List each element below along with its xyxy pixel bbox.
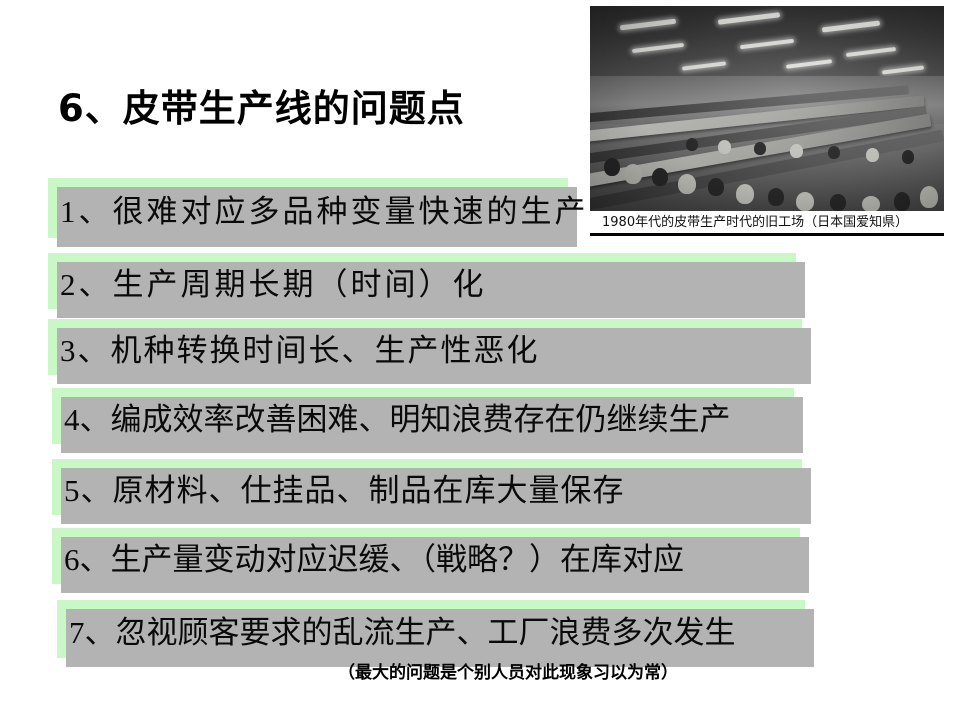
list-item-label: 7、忽视顾客要求的乱流生产、工厂浪费多次发生 [69, 607, 736, 652]
slide-canvas: 6、皮带生产线的问题点 [0, 0, 960, 720]
list-item[interactable]: 7、忽视顾客要求的乱流生产、工厂浪费多次发生 [57, 600, 805, 658]
list-item[interactable]: 4、编成效率改善困难、明知浪费存在仍继续生产 [52, 388, 794, 444]
list-item[interactable]: 3、机种转换时间长、生产性恶化 [48, 319, 802, 375]
list-item[interactable]: 5、原材料、仕挂品、制品在库大量保存 [52, 459, 802, 515]
list-item-label: 4、编成效率改善困难、明知浪费存在仍继续生产 [64, 394, 731, 439]
list-item-label: 1、很难对应多品种变量快速的生产 [60, 186, 589, 231]
factory-photo [590, 6, 944, 211]
footer-note: （最大的问题是个别人员对此现象习以为常） [338, 658, 678, 683]
page-title: 6、皮带生产线的问题点 [58, 78, 465, 132]
photo-block: 1980年代的皮带生产时代的旧工场（日本国爱知県） [590, 6, 944, 238]
photo-vignette [590, 6, 944, 211]
list-item[interactable]: 2、生产周期长期（时间）化 [48, 253, 796, 309]
photo-caption: 1980年代的皮带生产时代的旧工场（日本国爱知県） [590, 211, 944, 236]
list-item-label: 5、原材料、仕挂品、制品在库大量保存 [64, 465, 625, 510]
list-item[interactable]: 1、很难对应多品种变量快速的生产 [48, 178, 568, 238]
list-item-label: 3、机种转换时间长、生产性恶化 [60, 325, 540, 370]
list-item[interactable]: 6、生产量变动对应迟缓、（戦略？）在库对应 [52, 528, 800, 584]
list-item-label: 6、生产量变动对应迟缓、（戦略？）在库对应 [64, 534, 684, 579]
list-item-label: 2、生产周期长期（时间）化 [60, 259, 487, 304]
